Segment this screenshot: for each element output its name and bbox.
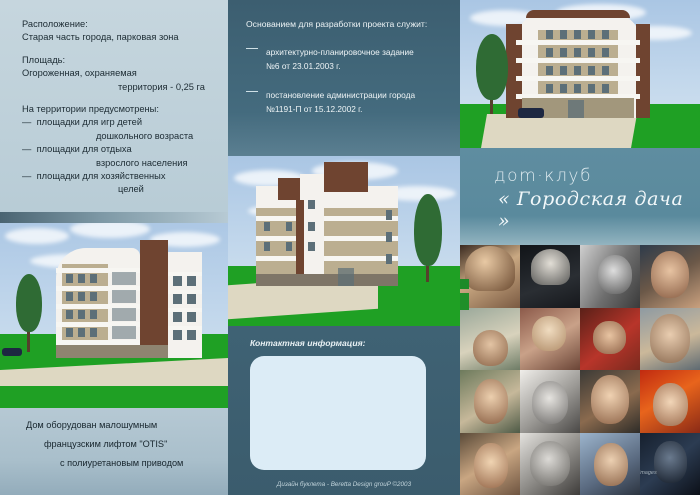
portrait-figure — [594, 443, 628, 487]
green-accent-marker-top — [460, 279, 469, 289]
building-brick-right — [636, 24, 650, 118]
building-base — [56, 345, 168, 358]
floor-slab — [256, 216, 398, 221]
portrait-figure — [530, 441, 571, 486]
window — [173, 294, 182, 304]
window — [546, 66, 553, 75]
basis-bullet-2-line1: постановление администрации города — [266, 90, 415, 100]
collage-photo-5 — [460, 308, 520, 371]
entrance-door — [568, 100, 584, 118]
area-value-2: территория - 0,25 га — [22, 81, 216, 94]
location-label: Расположение: — [22, 18, 216, 31]
collage-photo-14 — [520, 433, 580, 495]
window — [78, 310, 85, 319]
collage-photo-10 — [520, 370, 580, 433]
portrait-figure — [474, 443, 508, 488]
spacer — [22, 45, 216, 54]
portrait-figure — [474, 379, 508, 424]
portrait-figure — [593, 321, 625, 354]
basis-bullet-2-text: постановление администрации города №1191… — [266, 85, 415, 115]
facility-item-2: — площадки для отдыха — [22, 143, 216, 156]
tree-foliage — [16, 274, 42, 332]
collage-photo-3 — [580, 245, 640, 308]
logo-line-1: дom·клуб — [494, 166, 592, 186]
collage-watermark: images — [640, 470, 699, 476]
basis-bullet-1-text: архитектурно-планировочное задание №6 от… — [266, 42, 414, 72]
window — [386, 254, 392, 264]
dash-icon: — — [22, 143, 34, 156]
window — [560, 66, 567, 75]
collage-photo-4 — [640, 245, 700, 308]
window — [78, 292, 85, 301]
collage-photo-1 — [460, 245, 520, 308]
window — [78, 328, 85, 337]
window — [574, 84, 581, 93]
portrait-figure — [653, 383, 688, 427]
window — [588, 48, 595, 57]
window — [546, 30, 553, 39]
window — [173, 312, 182, 322]
portrait-figure — [473, 330, 508, 366]
window — [560, 30, 567, 39]
tree-foliage — [414, 194, 442, 266]
window — [308, 200, 315, 209]
spacer — [22, 94, 216, 103]
balcony — [112, 326, 136, 339]
window — [187, 294, 196, 304]
balcony — [112, 290, 136, 303]
floor-slab — [256, 256, 398, 261]
window — [90, 328, 97, 337]
contact-label: Контактная информация: — [250, 338, 366, 348]
floor-slab — [516, 58, 640, 63]
building-base — [256, 274, 398, 286]
window — [602, 48, 609, 57]
portrait-figure — [591, 375, 629, 424]
balcony — [112, 272, 136, 285]
window — [602, 30, 609, 39]
collage-photo-13 — [460, 433, 520, 495]
facility-item-1: — площадки для игр детей — [22, 116, 216, 129]
facility-item-3b: целей — [22, 183, 216, 196]
window — [560, 48, 567, 57]
design-credit: Дизайн буклета - Beretta Design grouP ©2… — [228, 481, 460, 488]
floor-slab — [516, 76, 640, 81]
collage-photo-7 — [580, 308, 640, 371]
dash-icon — [246, 48, 258, 49]
dash-icon: — — [22, 170, 34, 183]
window — [286, 222, 292, 231]
basis-bullet-2-line2: №1191-П от 15.12.2002 г. — [266, 103, 415, 115]
window — [386, 232, 392, 242]
window — [588, 30, 595, 39]
portrait-figure — [598, 255, 632, 294]
facility-item-1-text: площадки для игр детей — [37, 117, 142, 127]
area-label: Площадь: — [22, 54, 216, 67]
collage-photo-2 — [520, 245, 580, 308]
floor-slab — [256, 236, 398, 241]
left-bottom-text: Дом оборудован малошумным французским ли… — [0, 408, 228, 495]
window — [90, 310, 97, 319]
left-building-render — [0, 212, 228, 408]
portrait-figure — [532, 316, 566, 351]
floor-slab — [516, 40, 640, 45]
area-value-1: Огороженная, охраняемая — [22, 67, 216, 80]
left-text-block: Расположение: Старая часть города, парко… — [0, 0, 228, 212]
window — [187, 276, 196, 286]
portrait-figure — [532, 381, 568, 424]
portrait-figure — [654, 441, 686, 482]
facilities-label: На территории предусмотрены: — [22, 103, 216, 116]
facility-item-1b: дошкольного возраста — [22, 130, 216, 143]
photo-collage: images — [460, 245, 700, 495]
window — [546, 84, 553, 93]
window — [308, 242, 315, 251]
window — [66, 292, 73, 301]
right-building-render — [460, 0, 700, 148]
car — [518, 108, 544, 118]
cloud — [5, 228, 69, 244]
basis-heading: Основанием для разработки проекта служит… — [246, 18, 448, 30]
window — [173, 276, 182, 286]
window — [588, 84, 595, 93]
window — [602, 66, 609, 75]
window — [173, 330, 182, 340]
collage-photo-8 — [640, 308, 700, 371]
contact-input-box[interactable] — [250, 356, 426, 470]
window — [588, 66, 595, 75]
window — [66, 310, 73, 319]
window — [187, 312, 196, 322]
building-brick-top — [278, 178, 300, 200]
window — [78, 274, 85, 283]
basis-bullet-2: постановление администрации города №1191… — [246, 85, 448, 115]
window — [546, 48, 553, 57]
window — [308, 222, 315, 231]
collage-photo-11 — [580, 370, 640, 433]
basis-bullet-1-line2: №6 от 23.01.2003 г. — [266, 60, 414, 72]
logo-block: дom·клуб « Городская дача » — [460, 148, 700, 245]
building-brick-section — [140, 240, 168, 358]
portrait-figure — [465, 246, 515, 291]
window — [286, 242, 292, 251]
basis-text-block: Основанием для разработки проекта служит… — [228, 0, 460, 156]
location-value: Старая часть города, парковая зона — [22, 31, 216, 44]
contact-section: Контактная информация: Дизайн буклета - … — [228, 326, 460, 495]
collage-photo-12 — [640, 370, 700, 433]
portrait-figure — [651, 251, 689, 297]
collage-photo-9 — [460, 370, 520, 433]
building-brick-top — [324, 162, 368, 192]
logo-line-2: « Городская дача » — [498, 188, 700, 232]
window — [574, 48, 581, 57]
elevator-line-3: с полиуретановым приводом — [18, 454, 218, 473]
window — [574, 66, 581, 75]
car — [2, 348, 22, 356]
window — [264, 242, 270, 251]
tree-foliage — [476, 34, 508, 100]
left-panel: Расположение: Старая часть города, парко… — [0, 0, 228, 495]
facility-item-3-text: площадки для хозяйственных — [37, 171, 166, 181]
collage-photo-6 — [520, 308, 580, 371]
collage-photo-16: images — [640, 433, 700, 495]
window — [602, 84, 609, 93]
basis-bullet-1-line1: архитектурно-планировочное задание — [266, 47, 414, 57]
green-accent-marker-bottom — [460, 293, 469, 310]
roof-cornice — [526, 10, 630, 18]
facility-item-2-text: площадки для отдыха — [37, 144, 132, 154]
portrait-figure — [650, 314, 691, 363]
entrance-door — [338, 268, 354, 286]
dash-icon — [246, 91, 258, 92]
window — [66, 328, 73, 337]
window — [574, 30, 581, 39]
collage-photo-15 — [580, 433, 640, 495]
right-panel: дom·клуб « Городская дача » images — [460, 0, 700, 495]
dash-icon: — — [22, 116, 34, 129]
window — [90, 292, 97, 301]
middle-panel: Основанием для разработки проекта служит… — [228, 0, 460, 495]
pavement — [481, 114, 637, 148]
window — [560, 84, 567, 93]
window — [66, 274, 73, 283]
elevator-line-1: Дом оборудован малошумным — [18, 416, 218, 435]
middle-building-render — [228, 156, 460, 326]
lawn-front — [0, 386, 228, 408]
portrait-figure — [531, 249, 571, 285]
window — [264, 222, 270, 231]
building-brick-left — [506, 24, 522, 118]
facility-item-3: — площадки для хозяйственных — [22, 170, 216, 183]
basis-bullet-1: архитектурно-планировочное задание №6 от… — [246, 42, 448, 72]
facility-item-2b: взрослого населения — [22, 157, 216, 170]
building-right-wing — [168, 252, 202, 358]
window — [386, 210, 392, 220]
elevator-line-2: французским лифтом "OTIS" — [18, 435, 218, 454]
brochure-page: Расположение: Старая часть города, парко… — [0, 0, 700, 495]
window — [187, 330, 196, 340]
window — [90, 274, 97, 283]
balcony — [112, 308, 136, 321]
left-divider-band — [0, 212, 228, 223]
